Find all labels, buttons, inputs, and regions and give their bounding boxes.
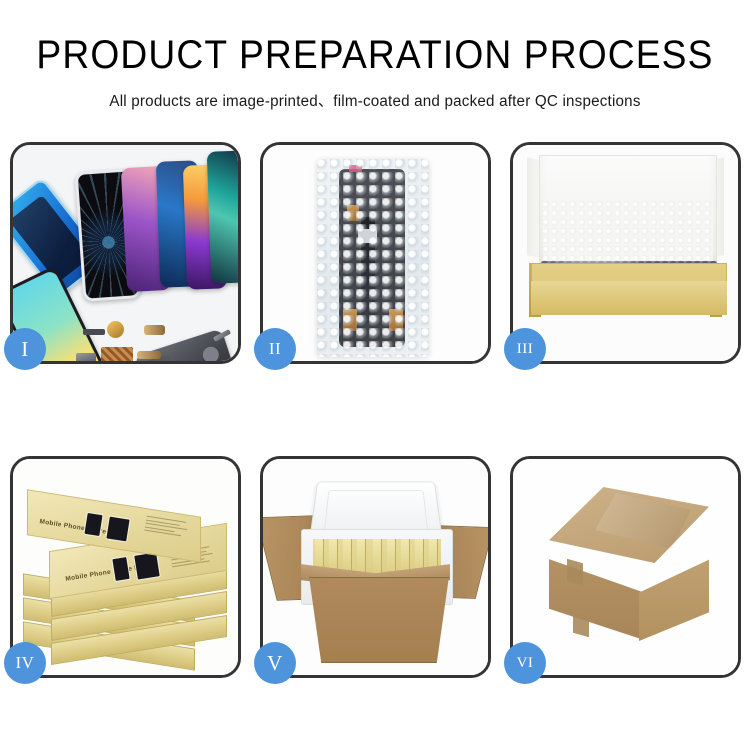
step-panel-5[interactable]: V (260, 456, 491, 678)
kraft-box-stack-icon: Mobile Phone Spare Parts Mobile Phone Sp… (21, 483, 235, 669)
product-preparation-infographic: PRODUCT PREPARATION PROCESS All products… (0, 0, 750, 750)
carton-tape-upper-icon (567, 559, 583, 586)
header: PRODUCT PREPARATION PROCESS All products… (0, 0, 750, 111)
step-panel-4[interactable]: Mobile Phone Spare Parts Mobile Phone Sp… (10, 456, 241, 678)
step-badge-5: V (254, 642, 296, 684)
step-badge-1: I (4, 328, 46, 370)
bubble-wrap-bag-icon (317, 159, 429, 357)
ic-chip-grid-icon (101, 347, 133, 361)
boxed-stack-scene: Mobile Phone Spare Parts Mobile Phone Sp… (13, 459, 238, 675)
white-tissue-icon (543, 201, 713, 267)
process-steps-grid: I II (10, 142, 742, 680)
step-badge-3: III (504, 328, 546, 370)
step-panel-6[interactable]: VI (510, 456, 741, 678)
sealed-carton-scene (513, 459, 738, 675)
step-image-3 (513, 145, 738, 361)
flex-cable-icon (144, 325, 165, 335)
step-panel-2[interactable]: II (260, 142, 491, 364)
foam-carton-scene (263, 459, 488, 675)
phone-parts-scene (13, 145, 238, 361)
step-image-5 (263, 459, 488, 675)
box-phone-image-2-icon (105, 515, 130, 542)
bubble-wrapped-lcd-scene (263, 145, 488, 361)
inner-box-scene (513, 145, 738, 361)
bubble-texture (317, 159, 429, 357)
kraft-box-front-icon (531, 281, 727, 315)
step-badge-4: IV (4, 642, 46, 684)
gold-coil-part-icon (107, 321, 124, 338)
step-panel-3[interactable]: III (510, 142, 741, 364)
connector-part-icon (76, 353, 96, 361)
page-subtitle: All products are image-printed、film-coat… (8, 89, 743, 111)
step-badge-6: VI (504, 642, 546, 684)
step-image-2 (263, 145, 488, 361)
step-badge-2: II (254, 328, 296, 370)
shipping-carton-icon (535, 487, 723, 647)
box-phone-image-1-icon (83, 512, 103, 537)
small-part-icon (83, 329, 105, 335)
carton-tape-lower-icon (573, 613, 589, 638)
carton-body-icon (303, 577, 455, 663)
ribbon-cable-icon (137, 351, 161, 359)
step-image-1 (13, 145, 238, 361)
step-image-6 (513, 459, 738, 675)
step-image-4: Mobile Phone Spare Parts Mobile Phone Sp… (13, 459, 238, 675)
step-panel-1[interactable]: I (10, 142, 241, 364)
teal-phone-screen-icon (207, 150, 238, 283)
page-title: PRODUCT PREPARATION PROCESS (26, 34, 724, 76)
